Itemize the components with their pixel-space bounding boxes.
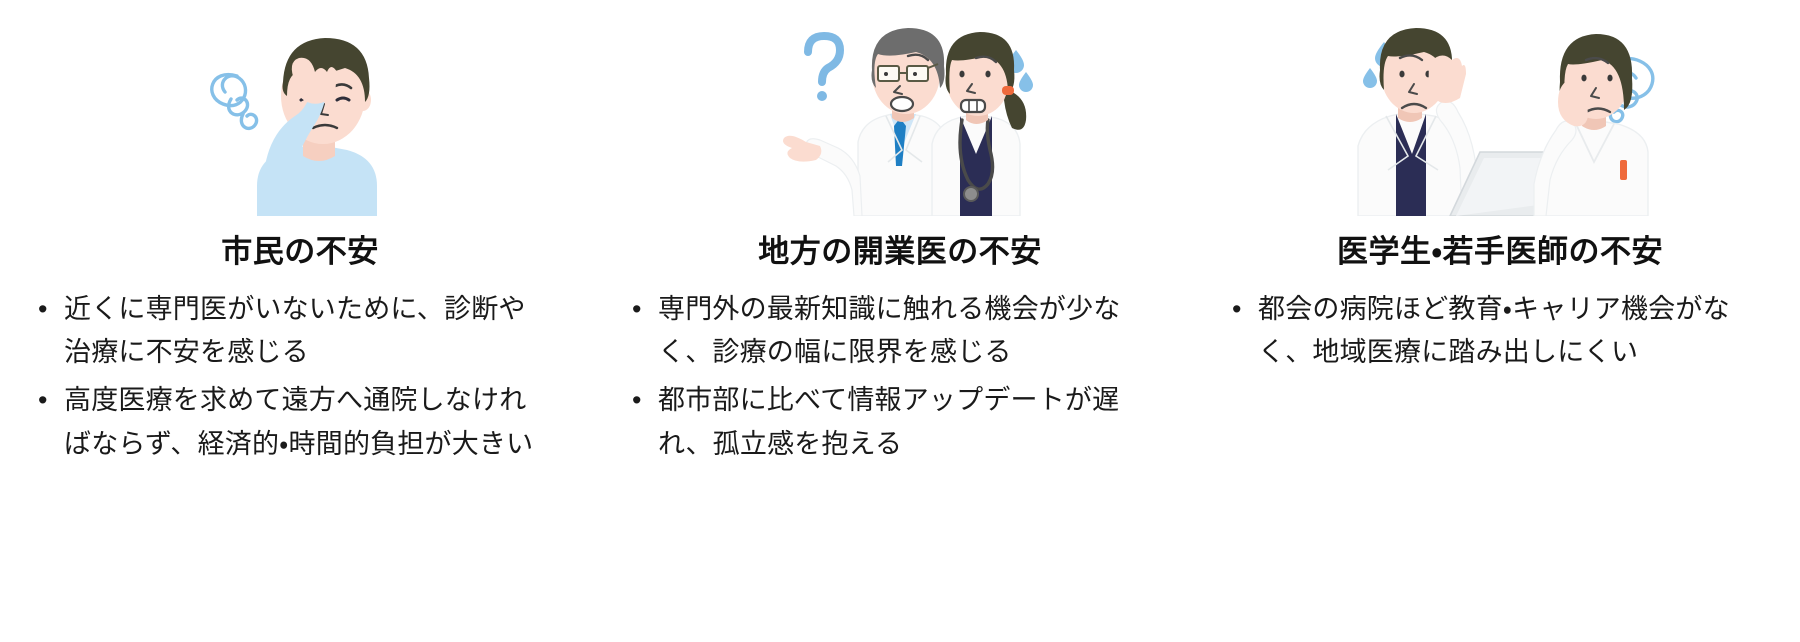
female2-right-eye bbox=[1607, 75, 1612, 82]
young-doctors-svg bbox=[1330, 16, 1670, 216]
bullet-glyph: • bbox=[624, 288, 658, 332]
column-rural-doctor: 地方の開業医の不安 • 専門外の最新知識に触れる機会が少なく、診療の幅に限界を感… bbox=[600, 0, 1200, 642]
hair-tie bbox=[1002, 86, 1014, 95]
male-left-eye bbox=[884, 72, 888, 76]
bullet-text: 専門外の最新知識に触れる機会が少なく、診療の幅に限界を感じる bbox=[658, 288, 1144, 375]
page-title-citizen: 市民の不安 bbox=[221, 233, 379, 272]
column-students-young-doctors: 医学生・若手医師の不安 • 都会の病院ほど教育・キャリア機会がなく、地域医療に踏… bbox=[1200, 0, 1800, 642]
column-citizen: 市民の不安 • 近くに専門医がいないために、診断や治療に不安を感じる • 高度医… bbox=[0, 0, 600, 642]
list-item: • 都会の病院ほど教育・キャリア機会がなく、地域医療に踏み出しにくい bbox=[1224, 288, 1744, 375]
list-item: • 高度医療を求めて遠方へ通院しなければならず、経済的・時間的負担が大きい bbox=[30, 379, 550, 466]
page-title-rural-doctor: 地方の開業医の不安 bbox=[758, 233, 1042, 272]
list-item: • 専門外の最新知識に触れる機会が少なく、診療の幅に限界を感じる bbox=[624, 288, 1144, 375]
bullet-glyph: • bbox=[624, 379, 658, 423]
worried-citizen-illustration bbox=[0, 0, 600, 216]
male2-left-eye bbox=[1399, 71, 1404, 78]
male-mouth bbox=[891, 97, 913, 111]
male2-hand bbox=[1429, 55, 1466, 103]
bullet-text: 都会の病院ほど教育・キャリア機会がなく、地域医療に踏み出しにくい bbox=[1258, 288, 1744, 375]
male-right-eye bbox=[913, 72, 917, 76]
bullet-list-citizen: • 近くに専門医がいないために、診断や治療に不安を感じる • 高度医療を求めて遠… bbox=[30, 288, 550, 471]
female2-left-eye bbox=[1581, 75, 1586, 82]
pen-icon bbox=[1620, 160, 1627, 180]
bullet-text: 近くに専門医がいないために、診断や治療に不安を感じる bbox=[64, 288, 550, 375]
bullet-text: 都市部に比べて情報アップデートが遅れ、孤立感を抱える bbox=[658, 379, 1144, 466]
rural-clinic-doctors-illustration bbox=[600, 0, 1200, 216]
bullet-glyph: • bbox=[30, 288, 64, 332]
rural-doctors-svg bbox=[750, 16, 1050, 216]
blue-scribble-icon bbox=[212, 75, 257, 129]
bullet-list-students-young-doctors: • 都会の病院ほど教育・キャリア機会がなく、地域医療に踏み出しにくい bbox=[1224, 288, 1744, 379]
list-item: • 都市部に比べて情報アップデートが遅れ、孤立感を抱える bbox=[624, 379, 1144, 466]
bullet-glyph: • bbox=[30, 379, 64, 423]
young-doctors-illustration bbox=[1200, 0, 1800, 216]
worried-citizen-svg bbox=[195, 16, 405, 216]
question-mark-icon bbox=[808, 36, 840, 101]
page-title-students-young-doctors: 医学生・若手医師の不安 bbox=[1337, 233, 1663, 272]
bullet-glyph: • bbox=[1224, 288, 1258, 332]
female2-hand bbox=[1558, 79, 1588, 126]
slide-root: 市民の不安 • 近くに専門医がいないために、診断や治療に不安を感じる • 高度医… bbox=[0, 0, 1800, 642]
female-right-eye bbox=[985, 71, 990, 78]
bullet-list-rural-doctor: • 専門外の最新知識に触れる機会が少なく、診療の幅に限界を感じる • 都市部に比… bbox=[624, 288, 1144, 471]
female-mouth bbox=[961, 100, 985, 112]
stethoscope-chestpiece bbox=[964, 187, 978, 201]
female-left-eye bbox=[959, 71, 964, 78]
bullet-text: 高度医療を求めて遠方へ通院しなければならず、経済的・時間的負担が大きい bbox=[64, 379, 550, 466]
list-item: • 近くに専門医がいないために、診断や治療に不安を感じる bbox=[30, 288, 550, 375]
